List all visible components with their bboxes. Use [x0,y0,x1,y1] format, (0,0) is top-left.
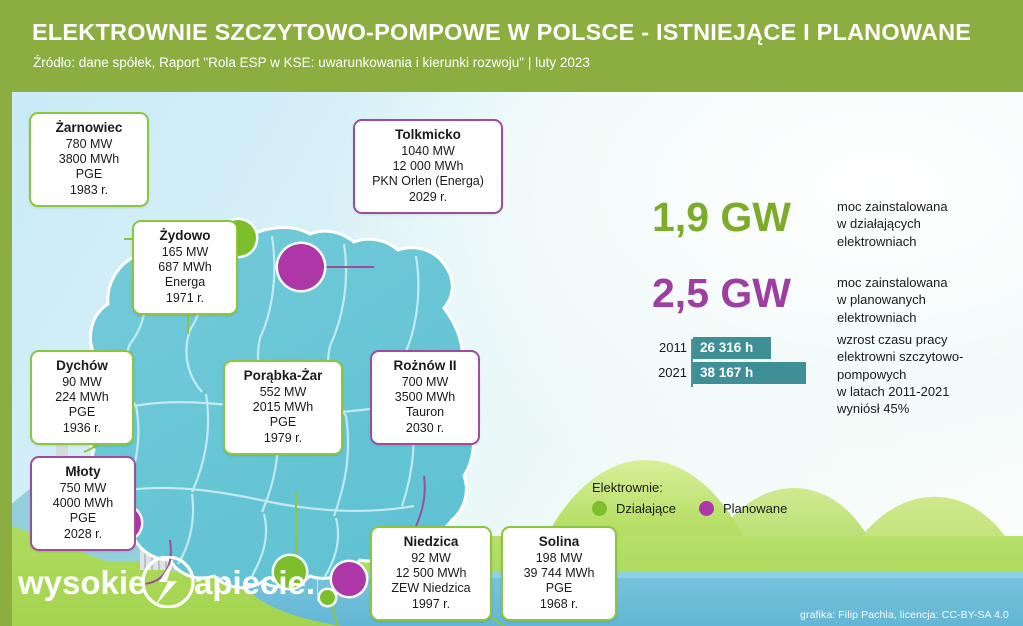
legend-operating-dot-icon [592,501,607,516]
legend-title: Elektrownie: [592,480,801,495]
annotation-line-2: elektrowni szczytowo- [837,348,963,365]
plant-power: 165 MW [143,245,227,260]
plant-owner: PGE [512,581,606,596]
plant-energy: 687 MWh [143,260,227,275]
plant-energy: 39 744 MWh [512,566,606,581]
content-canvas: Żarnowiec 780 MW 3800 MWh PGE 1983 r. Ży… [12,92,1023,626]
plant-year: 1936 r. [41,421,123,436]
legend-operating-label: Działające [616,501,676,516]
plant-energy: 3500 MWh [381,390,469,405]
plant-owner: ZEW Niedzica [381,581,481,596]
logo-text-pre: wysokie [18,564,146,601]
plant-power: 552 MW [234,385,332,400]
desc-line-2: w planowanych [837,291,948,308]
chart-value-label: 38 167 h [700,365,753,380]
plant-name: Rożnów II [381,358,469,375]
plant-energy: 12 500 MWh [381,566,481,581]
operating-hours-chart: 2011 26 316 h 2021 38 167 h wzrost czasu… [652,337,1023,387]
legend-planned-label: Planowane [723,501,787,516]
chart-category-label: 2011 [652,340,687,355]
plant-year: 1979 r. [234,431,332,446]
callout-tolkmicko[interactable]: Tolkmicko 1040 MW 12 000 MWh PKN Orlen (… [353,119,503,214]
plant-year: 1971 r. [143,291,227,306]
plant-owner: PGE [41,405,123,420]
plant-energy: 224 MWh [41,390,123,405]
plant-power: 750 MW [41,481,125,496]
plant-name: Żydowo [143,228,227,245]
chart-category-label: 2021 [652,365,687,380]
plant-power: 198 MW [512,551,606,566]
plant-name: Żarnowiec [40,120,138,137]
desc-line-3: elektrowniach [837,309,948,326]
stat-operating-desc: moc zainstalowana w działających elektro… [837,198,948,250]
plant-year: 2030 r. [381,421,469,436]
legend-planned-dot-icon [699,501,714,516]
plant-name: Tolkmicko [364,127,492,144]
plant-power: 700 MW [381,375,469,390]
page-title: ELEKTROWNIE SZCZYTOWO-POMPOWE W POLSCE -… [32,19,971,46]
plant-owner: PGE [234,415,332,430]
plant-year: 2028 r. [41,527,125,542]
chart-annotation: wzrost czasu pracy elektrowni szczytowo-… [837,331,963,417]
desc-line-2: w działających [837,215,948,232]
stat-operating: 1,9 GW moc zainstalowana w działających … [652,197,1023,257]
source-line: Źródło: dane spółek, Raport "Rola ESP w … [33,55,590,70]
plant-name: Solina [512,534,606,551]
plant-year: 1983 r. [40,183,138,198]
callout-solina[interactable]: Solina 198 MW 39 744 MWh PGE 1968 r. [501,526,617,621]
plant-year: 2029 r. [364,190,492,205]
annotation-line-4: w latach 2011-2021 [837,383,963,400]
callout-zydowo[interactable]: Żydowo 165 MW 687 MWh Energa 1971 r. [132,220,238,315]
plant-power: 1040 MW [364,144,492,159]
plant-owner: Energa [143,275,227,290]
marker-roznow-ii[interactable] [332,562,366,596]
graphic-credit: grafika: Filip Pachla, licencja: CC-BY-S… [800,609,1009,621]
plant-owner: PGE [40,167,138,182]
plant-name: Dychów [41,358,123,375]
plant-energy: 2015 MWh [234,400,332,415]
plant-power: 780 MW [40,137,138,152]
marker-niedzica[interactable] [320,590,335,605]
stat-operating-value: 1,9 GW [652,197,791,238]
plant-energy: 3800 MWh [40,152,138,167]
annotation-line-1: wzrost czasu pracy [837,331,963,348]
plant-name: Młoty [41,464,125,481]
desc-line-3: elektrowniach [837,233,948,250]
plant-owner: PGE [41,511,125,526]
plant-year: 1997 r. [381,597,481,612]
desc-line-1: moc zainstalowana [837,274,948,291]
header-bar: ELEKTROWNIE SZCZYTOWO-POMPOWE W POLSCE -… [0,0,1023,92]
plant-name: Niedzica [381,534,481,551]
desc-line-1: moc zainstalowana [837,198,948,215]
annotation-line-3: pompowych [837,366,963,383]
plant-name: Porąbka-Żar [234,368,332,385]
stat-planned-desc: moc zainstalowana w planowanych elektrow… [837,274,948,326]
plant-owner: Tauron [381,405,469,420]
callout-mloty[interactable]: Młoty 750 MW 4000 MWh PGE 2028 r. [30,456,136,551]
chart-value-label: 26 316 h [700,340,753,355]
callout-roznow-ii[interactable]: Rożnów II 700 MW 3500 MWh Tauron 2030 r. [370,350,480,445]
callout-zarnowiec[interactable]: Żarnowiec 780 MW 3800 MWh PGE 1983 r. [29,112,149,207]
plant-power: 92 MW [381,551,481,566]
plant-power: 90 MW [41,375,123,390]
callout-dychow[interactable]: Dychów 90 MW 224 MWh PGE 1936 r. [30,350,134,445]
marker-tolkmicko[interactable] [278,244,324,290]
stat-planned: 2,5 GW moc zainstalowana w planowanych e… [652,273,1023,333]
plant-energy: 4000 MWh [41,496,125,511]
stat-planned-value: 2,5 GW [652,273,791,314]
plant-year: 1968 r. [512,597,606,612]
callout-porabka-zar[interactable]: Porąbka-Żar 552 MW 2015 MWh PGE 1979 r. [223,360,343,455]
infographic-root: ELEKTROWNIE SZCZYTOWO-POMPOWE W POLSCE -… [0,0,1023,626]
logo-svg: wysokie N apiecie.pl [18,556,318,608]
annotation-line-5: wyniósł 45% [837,400,963,417]
site-logo[interactable]: wysokie N apiecie.pl [18,556,318,608]
legend: Elektrownie: Działające Planowane [592,480,801,516]
plant-energy: 12 000 MWh [364,159,492,174]
plant-owner: PKN Orlen (Energa) [364,174,492,189]
stats-panel: 1,9 GW moc zainstalowana w działających … [652,197,1023,447]
callout-niedzica[interactable]: Niedzica 92 MW 12 500 MWh ZEW Niedzica 1… [370,526,492,621]
logo-text-post: apiecie.pl [194,564,318,601]
